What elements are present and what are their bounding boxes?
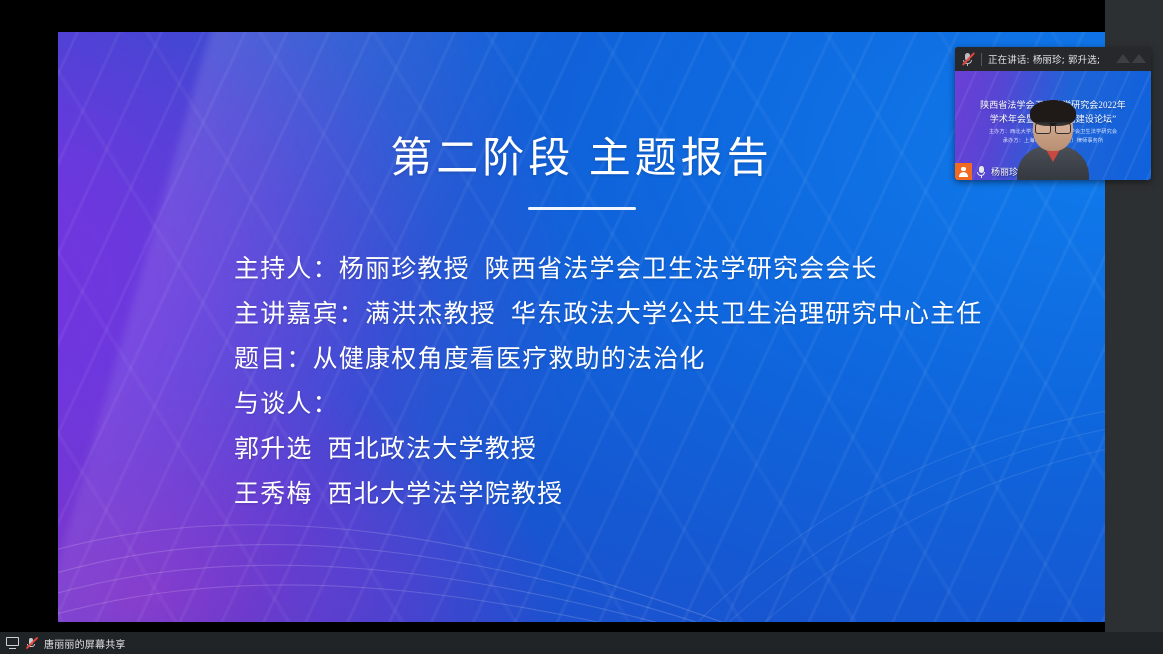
video-thumbnail-panel[interactable]: 正在讲话: 杨丽珍; 郭升选; 陕西省法学会卫生法学研究会2022年 学术年会暨…: [955, 47, 1151, 180]
shared-slide[interactable]: 第二阶段 主题报告 主持人：杨丽珍教授 陕西省法学会卫生法学研究会会长 主讲嘉宾…: [58, 32, 1105, 622]
meeting-window: 第二阶段 主题报告 主持人：杨丽珍教授 陕西省法学会卫生法学研究会会长 主讲嘉宾…: [0, 0, 1163, 654]
chevrons-icon[interactable]: [1116, 54, 1146, 63]
slide-body-line-topic: 题目：从健康权角度看医疗救助的法治化: [234, 337, 1074, 382]
screen-share-label: 唐丽丽的屏幕共享: [44, 636, 126, 651]
slide-body-line-discussant-2: 王秀梅 西北大学法学院教授: [234, 472, 1074, 517]
slide-body-line-discussants-label: 与谈人：: [234, 382, 1074, 427]
header-divider: [981, 53, 982, 66]
monitor-icon: [6, 637, 19, 649]
slide-body-line-host: 主持人：杨丽珍教授 陕西省法学会卫生法学研究会会长: [234, 247, 1074, 292]
screen-share-taskbar: 唐丽丽的屏幕共享: [0, 632, 1163, 654]
participant-name-label: 杨丽珍: [991, 165, 1018, 178]
video-feed[interactable]: 陕西省法学会卫生法学研究会2022年 学术年会暨“卫生法治建设论坛” 主办方：西…: [955, 71, 1151, 180]
slide-body: 主持人：杨丽珍教授 陕西省法学会卫生法学研究会会长 主讲嘉宾：满洪杰教授 华东政…: [234, 247, 1074, 517]
slide-title: 第二阶段 主题报告: [58, 124, 1105, 185]
slide-body-line-speaker: 主讲嘉宾：满洪杰教授 华东政法大学公共卫生治理研究中心主任: [234, 292, 1074, 337]
slide-title-underline: [528, 207, 636, 210]
participant-name-bar: 杨丽珍: [955, 163, 1024, 180]
video-panel-header: 正在讲话: 杨丽珍; 郭升选;: [955, 47, 1151, 71]
mic-off-icon[interactable]: [25, 637, 38, 650]
active-speaker-label: 正在讲话: 杨丽珍; 郭升选;: [988, 52, 1100, 66]
slide-body-line-discussant-1: 郭升选 西北政法大学教授: [234, 427, 1074, 472]
mic-on-icon[interactable]: [976, 165, 987, 178]
person-avatar-icon: [955, 163, 972, 180]
mic-off-icon[interactable]: [961, 52, 975, 66]
